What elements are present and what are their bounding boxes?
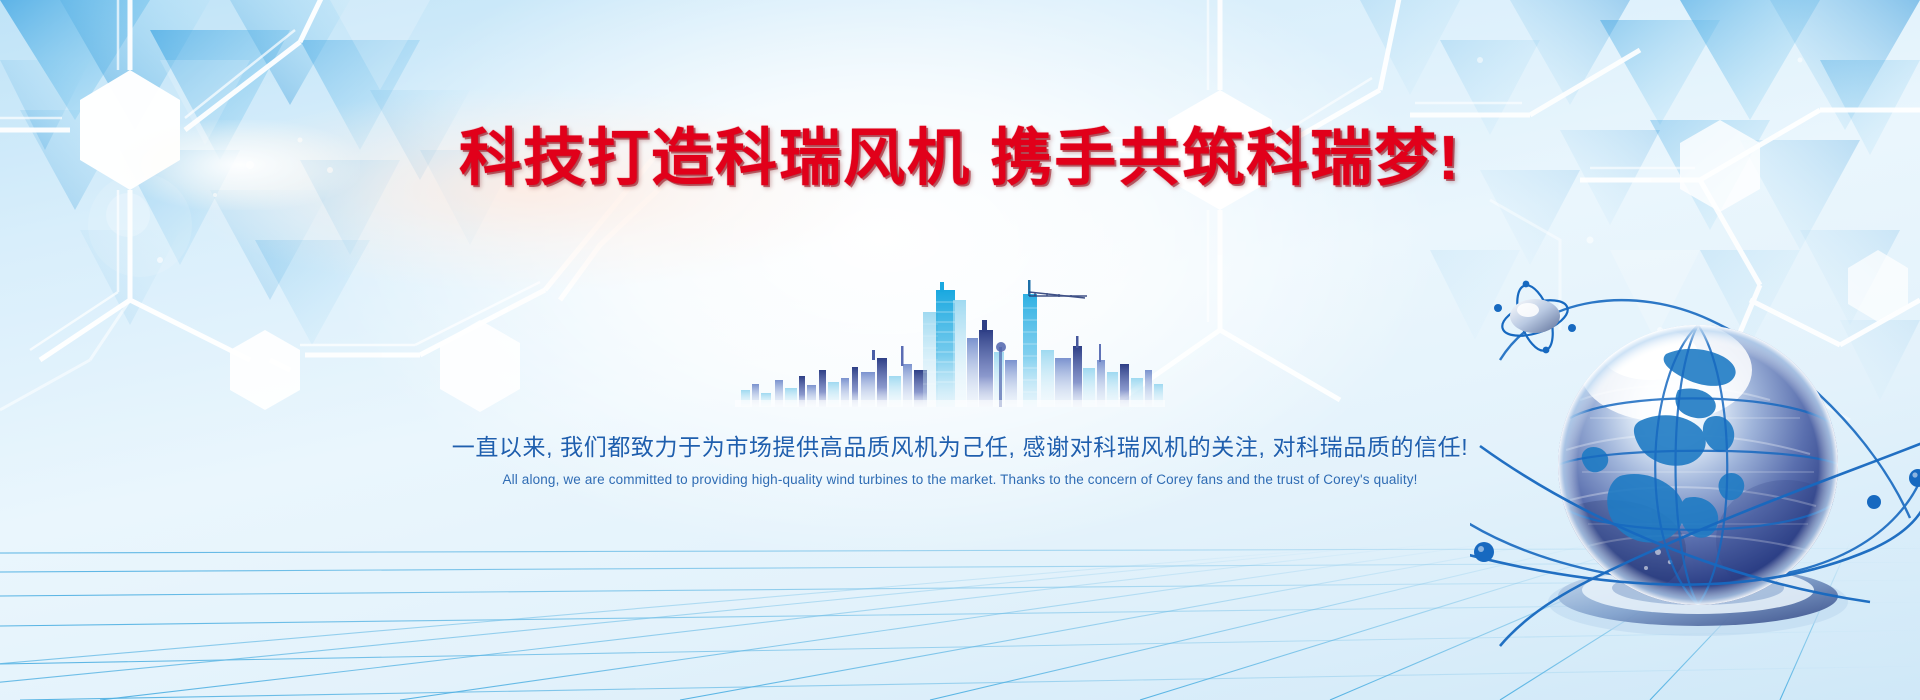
- globe-sphere: [1534, 318, 1856, 605]
- globe-network-illustration: [1470, 250, 1920, 700]
- satellite-atom-icon: [1494, 281, 1576, 355]
- promotional-banner: 科技打造科瑞风机 携手共筑科瑞梦!: [0, 0, 1920, 700]
- hexagon-network-pattern-left: [0, 0, 780, 430]
- banner-headline: 科技打造科瑞风机 携手共筑科瑞梦!: [459, 126, 1461, 191]
- city-skyline-illustration: [735, 272, 1165, 407]
- headline-container: 科技打造科瑞风机 携手共筑科瑞梦!: [0, 126, 1920, 191]
